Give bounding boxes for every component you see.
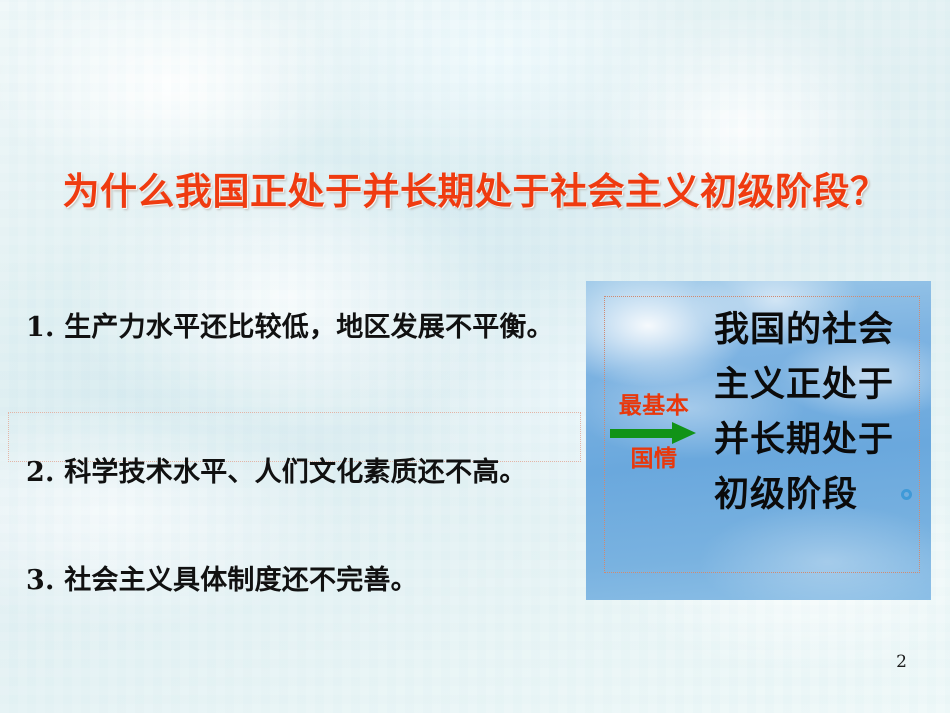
list-item: 2. 科学技术水平、人们文化素质还不高。 (26, 450, 527, 489)
page-title: 为什么我国正处于并长期处于社会主义初级阶段？ (0, 161, 950, 215)
callout-label-bottom: 国情 (606, 445, 702, 473)
conclusion-text: 我国的社会 主义正处于 并长期处于 初级阶段 (714, 303, 934, 523)
conclusion-line: 我国的社会 (714, 303, 934, 358)
arrow-shaft (610, 429, 676, 438)
callout-group: 最基本 国情 (606, 392, 702, 473)
conclusion-line: 并长期处于 (714, 413, 934, 468)
list-item-number: 3. (26, 565, 55, 596)
slide-canvas: 为什么我国正处于并长期处于社会主义初级阶段？ 1. 生产力水平还比较低，地区发展… (0, 0, 950, 713)
period-mark-icon (901, 489, 912, 500)
page-number: 2 (896, 652, 907, 672)
list-item-number: 1. (26, 312, 55, 343)
list-item-label: 社会主义具体制度还不完善。 (64, 565, 418, 596)
list-item: 1. 生产力水平还比较低，地区发展不平衡。 (26, 305, 554, 344)
arrow-head (672, 422, 696, 444)
list-item-label: 科学技术水平、人们文化素质还不高。 (64, 457, 526, 488)
list-item-number: 2. (26, 457, 55, 488)
list-item-label: 生产力水平还比较低，地区发展不平衡。 (64, 312, 554, 343)
conclusion-line: 主义正处于 (714, 358, 934, 413)
arrow-right-icon (606, 422, 702, 444)
callout-label-top: 最基本 (606, 392, 702, 420)
list-item: 3. 社会主义具体制度还不完善。 (26, 558, 418, 597)
